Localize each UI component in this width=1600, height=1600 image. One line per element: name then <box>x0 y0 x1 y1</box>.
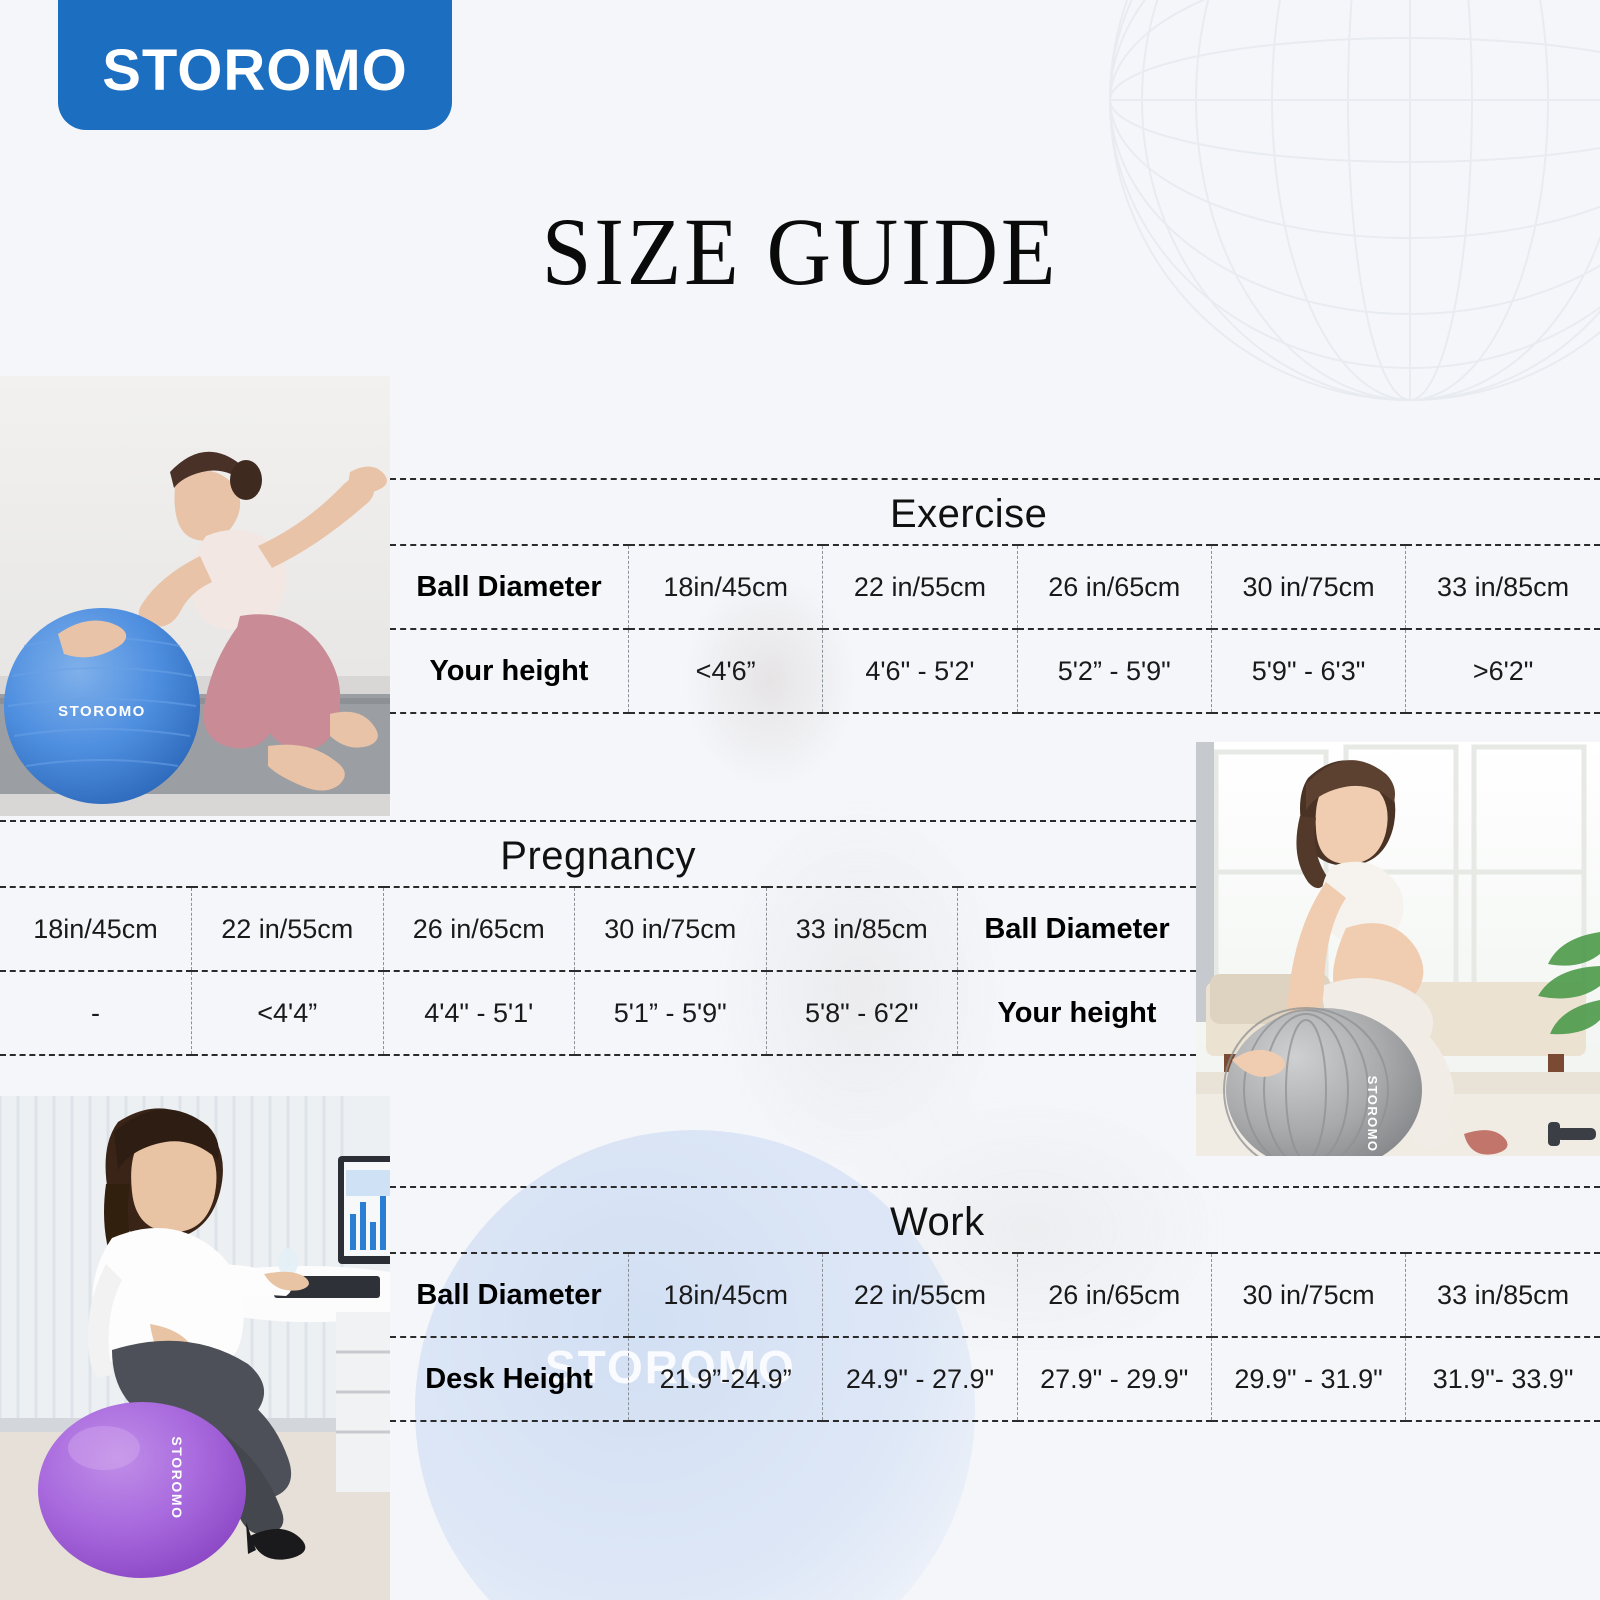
section-work: Work Ball Diameter 18in/45cm 22 in/55cm … <box>390 1186 1600 1422</box>
row-label-ball-diameter: Ball Diameter <box>390 545 629 629</box>
svg-text:STOROMO: STOROMO <box>1365 1076 1380 1153</box>
section-title-pregnancy: Pregnancy <box>0 820 1196 886</box>
size-guide-page: STOROMO STOROMO SIZE GUIDE <box>0 0 1600 1600</box>
cell-value: >6'2" <box>1406 629 1600 713</box>
photo-work: STOROMO <box>0 1096 390 1600</box>
row-label-ball-diameter: Ball Diameter <box>390 1253 629 1337</box>
table-exercise: Ball Diameter 18in/45cm 22 in/55cm 26 in… <box>390 544 1600 714</box>
cell-value: 5'1” - 5'9" <box>575 971 767 1055</box>
row-label-your-height: Your height <box>390 629 629 713</box>
section-pregnancy: Pregnancy 18in/45cm 22 in/55cm 26 in/65c… <box>0 820 1196 1056</box>
cell-value: 30 in/75cm <box>575 887 767 971</box>
page-title: SIZE GUIDE <box>56 196 1544 307</box>
cell-value: 31.9"- 33.9" <box>1406 1337 1600 1421</box>
cell-value: 4'4" - 5'1' <box>383 971 575 1055</box>
section-exercise: Exercise Ball Diameter 18in/45cm 22 in/5… <box>390 478 1600 714</box>
table-row: Your height <4'6” 4'6" - 5'2' 5'2” - 5'9… <box>390 629 1600 713</box>
cell-value: 21.9”-24.9” <box>629 1337 823 1421</box>
cell-value: 33 in/85cm <box>766 887 958 971</box>
cell-value: 29.9" - 31.9" <box>1211 1337 1405 1421</box>
cell-value: 5'8" - 6'2" <box>766 971 958 1055</box>
cell-value: 4'6" - 5'2' <box>823 629 1017 713</box>
svg-text:STOROMO: STOROMO <box>58 703 146 720</box>
brand-logo: STOROMO <box>58 0 452 130</box>
brand-logo-text: STOROMO <box>102 42 408 100</box>
table-row: 18in/45cm 22 in/55cm 26 in/65cm 30 in/75… <box>0 887 1196 971</box>
cell-value: 27.9" - 29.9" <box>1017 1337 1211 1421</box>
cell-value: 18in/45cm <box>629 1253 823 1337</box>
cell-value: 22 in/55cm <box>823 545 1017 629</box>
cell-value: 5'9" - 6'3" <box>1211 629 1405 713</box>
table-row: Desk Height 21.9”-24.9” 24.9" - 27.9" 27… <box>390 1337 1600 1421</box>
table-row: - <4'4” 4'4" - 5'1' 5'1” - 5'9" 5'8" - 6… <box>0 971 1196 1055</box>
cell-value: 18in/45cm <box>629 545 823 629</box>
cell-value: 5'2” - 5'9" <box>1017 629 1211 713</box>
row-label-your-height: Your height <box>958 971 1197 1055</box>
cell-value: 33 in/85cm <box>1406 545 1600 629</box>
cell-value: 18in/45cm <box>0 887 192 971</box>
row-label-desk-height: Desk Height <box>390 1337 629 1421</box>
cell-value: 24.9" - 27.9" <box>823 1337 1017 1421</box>
cell-value: - <box>0 971 192 1055</box>
table-work: Ball Diameter 18in/45cm 22 in/55cm 26 in… <box>390 1252 1600 1422</box>
cell-value: 22 in/55cm <box>823 1253 1017 1337</box>
photo-pregnancy: STOROMO <box>1196 742 1600 1156</box>
cell-value: 30 in/75cm <box>1211 1253 1405 1337</box>
table-row: Ball Diameter 18in/45cm 22 in/55cm 26 in… <box>390 545 1600 629</box>
cell-value: 22 in/55cm <box>192 887 384 971</box>
cell-value: 30 in/75cm <box>1211 545 1405 629</box>
photo-exercise: STOROMO <box>0 376 390 816</box>
cell-value: 26 in/65cm <box>383 887 575 971</box>
cell-value: 26 in/65cm <box>1017 545 1211 629</box>
cell-value: <4'6” <box>629 629 823 713</box>
cell-value: 33 in/85cm <box>1406 1253 1600 1337</box>
row-label-ball-diameter: Ball Diameter <box>958 887 1197 971</box>
cell-value: <4'4” <box>192 971 384 1055</box>
cell-value: 26 in/65cm <box>1017 1253 1211 1337</box>
table-pregnancy: 18in/45cm 22 in/55cm 26 in/65cm 30 in/75… <box>0 886 1196 1056</box>
table-row: Ball Diameter 18in/45cm 22 in/55cm 26 in… <box>390 1253 1600 1337</box>
section-title-exercise: Exercise <box>390 478 1600 544</box>
section-title-work: Work <box>390 1186 1600 1252</box>
svg-text:STOROMO: STOROMO <box>169 1436 185 1519</box>
